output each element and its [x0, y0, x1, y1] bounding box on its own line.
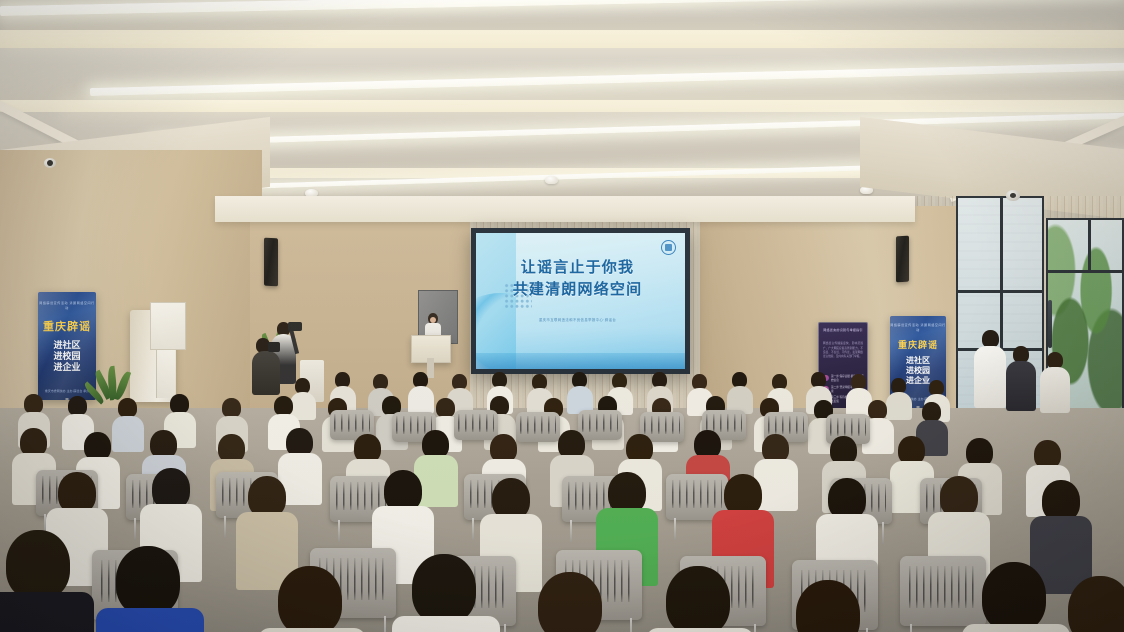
security-camera-icon [1006, 190, 1020, 201]
ceiling-light-glow [0, 26, 1124, 50]
ceiling-light-glow [60, 96, 1124, 116]
wall-speaker-right-icon [896, 236, 909, 283]
screen-surface: 让谣言止于你我 共建清朗网络空间 重庆市互联网违法和不良信息举报中心·辟谣台 [476, 233, 685, 369]
window-mullion [1048, 270, 1122, 273]
ac-vent-icon [159, 366, 172, 369]
camera-operator-2 [252, 338, 280, 394]
banner-right-headline: 重庆辟谣 [890, 338, 946, 351]
conference-hall-photo: 让谣言止于你我 共建清朗网络空间 重庆市互联网违法和不良信息举报中心·辟谣台 网… [0, 0, 1124, 632]
screen-title-line-1: 让谣言止于你我 [476, 257, 679, 279]
screen-title-line-2: 共建清朗网络空间 [476, 279, 679, 301]
standing-attendee [1040, 352, 1070, 410]
banner-left-headline: 重庆辟谣 [38, 318, 96, 334]
banner-left-topline: 网络辟谣宣传活动 清朗网络空间行动 [38, 301, 96, 311]
standing-attendee [1006, 346, 1036, 408]
camera-body-icon [268, 342, 280, 352]
rumor-refute-logo-icon [661, 240, 676, 255]
camera-body-icon [288, 322, 302, 331]
whiteboard-panel [150, 302, 186, 350]
dome-camera-icon [44, 158, 56, 168]
window-mullion [1088, 220, 1091, 272]
banner-right-topline: 网络辟谣宣传活动 清朗网络空间行动 [890, 323, 946, 333]
ceiling-speaker-dome [545, 176, 558, 184]
screen-title: 让谣言止于你我 共建清朗网络空间 [476, 257, 679, 301]
wall-header-beam [215, 196, 915, 222]
door-handle[interactable] [1048, 300, 1052, 348]
presentation-screen[interactable]: 让谣言止于你我 共建清朗网络空间 重庆市互联网违法和不良信息举报中心·辟谣台 [471, 228, 690, 374]
poster-title: 网络谣言的识别与举报指引 [819, 328, 867, 332]
window-mullion [958, 290, 1042, 293]
wall-speaker-left-icon [264, 238, 278, 287]
screen-bottom-gradient [476, 353, 685, 369]
poster-body: 网络谣言传播速度快、影响范围广，广大网民应提高辨别能力，不造谣、不信谣、不传谣，… [823, 342, 863, 359]
screen-subtitle: 重庆市互联网违法和不良信息举报中心·辟谣台 [476, 317, 679, 322]
standing-attendee [974, 330, 1006, 406]
